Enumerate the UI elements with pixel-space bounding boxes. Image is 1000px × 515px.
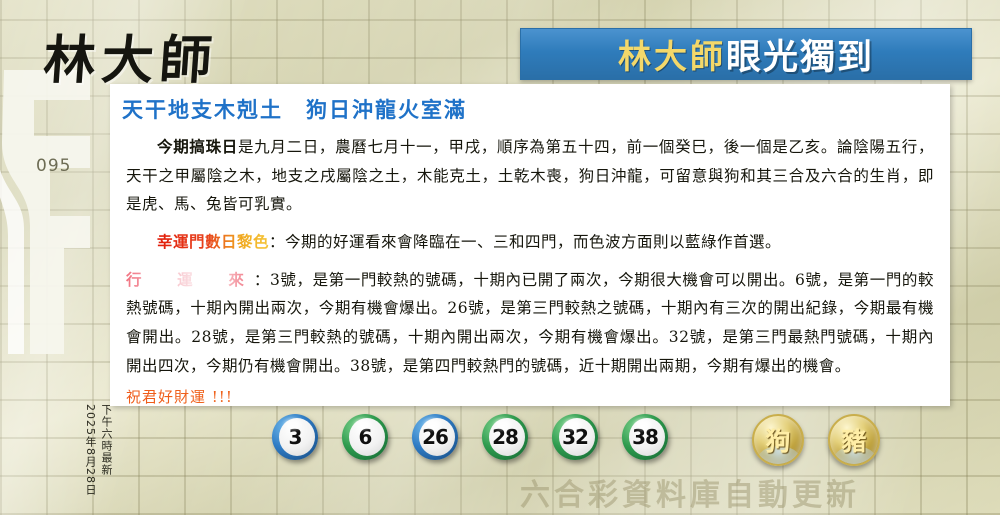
lottery-ball: 38 bbox=[622, 414, 668, 460]
lottery-ball: 28 bbox=[482, 414, 528, 460]
lottery-ball-number: 32 bbox=[562, 425, 588, 449]
decorative-left-mark bbox=[0, 66, 114, 356]
content-card: 天干地支木剋土 狗日沖龍火室滿 今期搞珠日是九月二日，農曆七月十一，甲戌，順序為… bbox=[110, 84, 950, 406]
issue-number: 095 bbox=[36, 156, 71, 176]
zodiac-disc: 狗 bbox=[752, 414, 804, 466]
lottery-ball-number: 3 bbox=[289, 425, 302, 449]
paragraph-numbers: 行 運 來：3號，是第一門較熱的號碼，十期內已開了兩次，今期很大機會可以開出。6… bbox=[126, 266, 934, 381]
banner-headline: 林大師眼光獨到 bbox=[520, 28, 972, 80]
brand-title: 林大師 bbox=[41, 18, 220, 93]
date-stamp: 2025年8月28日 bbox=[82, 404, 98, 496]
lucky-text: ：今期的好運看來會降臨在一、三和四門，而色波方面則以藍綠作首選。 bbox=[269, 233, 781, 251]
paragraph-analysis-text: 是九月二日，農曆七月十一，甲戌，順序為第五十四，前一個癸巳，後一個是乙亥。論陰陽… bbox=[126, 138, 934, 213]
lottery-ball-row: 3626283238 bbox=[272, 414, 668, 460]
paragraph-lucky: 幸運門數日黎色：今期的好運看來會降臨在一、三和四門，而色波方面則以藍綠作首選。 bbox=[126, 228, 934, 257]
zodiac-glyph: 豬 bbox=[841, 422, 866, 458]
lottery-ball: 3 bbox=[272, 414, 318, 460]
zodiac-glyph: 狗 bbox=[765, 422, 790, 458]
lottery-ball: 6 bbox=[342, 414, 388, 460]
banner-brand-text: 林大師 bbox=[618, 30, 726, 78]
lottery-ball-number: 38 bbox=[632, 425, 658, 449]
paragraph-analysis: 今期搞珠日是九月二日，農曆七月十一，甲戌，順序為第五十四，前一個癸巳，後一個是乙… bbox=[126, 133, 934, 219]
lucky-label: 幸運門數日黎色 bbox=[157, 232, 269, 251]
background-watermark: 六合彩資料庫自動更新 bbox=[520, 470, 860, 514]
page-title: 天干地支木剋土 狗日沖龍火室滿 bbox=[122, 94, 950, 124]
edition-stamp: 下午六時最新 bbox=[98, 404, 114, 476]
numbers-label: 行 運 來 bbox=[126, 270, 254, 289]
lottery-ball: 26 bbox=[412, 414, 458, 460]
lottery-ball-number: 6 bbox=[359, 425, 372, 449]
zodiac-row: 狗豬 bbox=[752, 414, 880, 466]
paragraph-lead: 今期搞珠日 bbox=[157, 137, 238, 156]
wish-text: 祝君好財運 !!! bbox=[126, 386, 934, 407]
lottery-ball-number: 28 bbox=[492, 425, 518, 449]
lottery-ball-number: 26 bbox=[422, 425, 448, 449]
lottery-ball: 32 bbox=[552, 414, 598, 460]
zodiac-disc: 豬 bbox=[828, 414, 880, 466]
banner-slogan-text: 眼光獨到 bbox=[726, 29, 874, 80]
poster-root: 095 2025年8月28日 下午六時最新 林大師 林大師眼光獨到 天干地支木剋… bbox=[0, 0, 1000, 515]
